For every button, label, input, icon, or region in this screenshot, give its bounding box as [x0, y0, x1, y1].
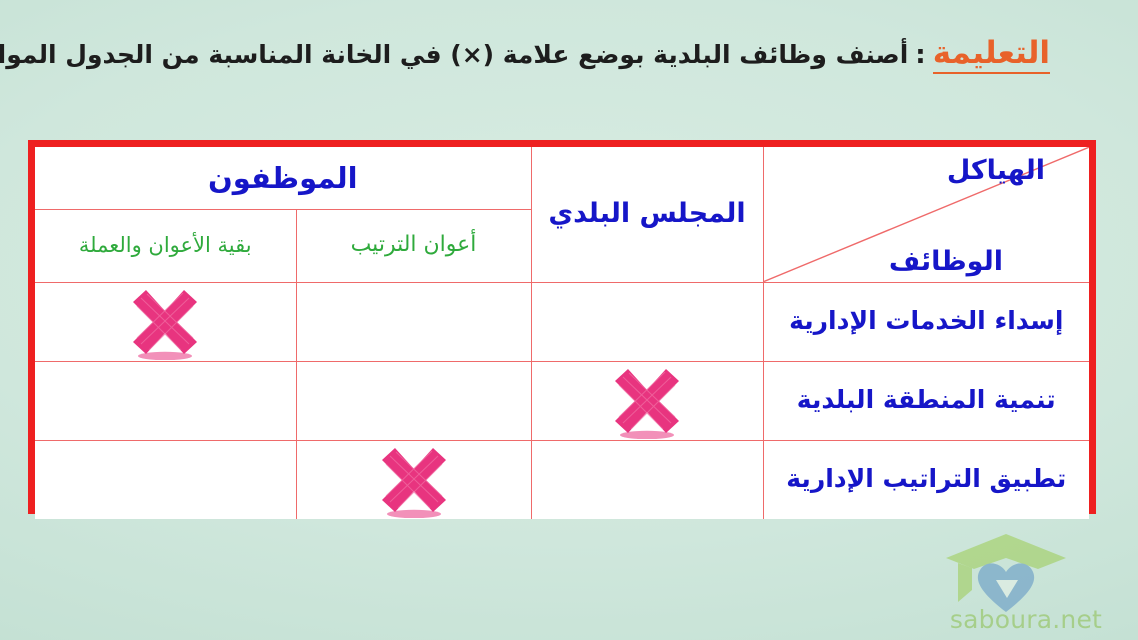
corner-top-label: الهياكل: [947, 155, 1045, 186]
watermark: saboura.net: [928, 530, 1124, 634]
cell-row2-council[interactable]: [531, 440, 763, 519]
instruction-separator: :: [908, 40, 932, 70]
column-header-council: المجلس البلدي: [531, 147, 763, 282]
cell-row2-rest[interactable]: [35, 440, 296, 519]
classification-table: الهياكل الوظائف المجلس البلدي الموظفون أ…: [28, 140, 1096, 514]
row-label-cell: تنمية المنطقة البلدية: [763, 361, 1089, 440]
row-label-text: تطبيق التراتيب الإدارية: [764, 465, 1090, 494]
column-group-header-employees: الموظفون: [35, 147, 531, 209]
column-header-agents-label: أعوان الترتيب: [297, 233, 531, 258]
cell-row1-council[interactable]: [531, 361, 763, 440]
worksheet-canvas: التعليمة : أصنف وظائف البلدية بوضع علامة…: [0, 0, 1138, 640]
x-mark-icon: [611, 363, 683, 439]
column-header-rest: بقية الأعوان والعملة: [35, 209, 296, 282]
cell-row0-rest[interactable]: [35, 282, 296, 361]
column-header-council-label: المجلس البلدي: [532, 199, 763, 229]
saboura-logo-icon: [928, 530, 1124, 616]
table-grid: الهياكل الوظائف المجلس البلدي الموظفون أ…: [35, 147, 1089, 519]
column-group-header-employees-label: الموظفون: [35, 162, 531, 194]
table-row: تطبيق التراتيب الإدارية: [35, 440, 1089, 519]
cell-row0-agents[interactable]: [296, 282, 531, 361]
row-label-cell: إسداء الخدمات الإدارية: [763, 282, 1089, 361]
column-header-rest-label: بقية الأعوان والعملة: [35, 235, 296, 256]
table-row: إسداء الخدمات الإدارية: [35, 282, 1089, 361]
watermark-text: saboura.net: [928, 605, 1124, 634]
cell-row1-agents[interactable]: [296, 361, 531, 440]
row-label-text: إسداء الخدمات الإدارية: [764, 307, 1090, 336]
row-label-text: تنمية المنطقة البلدية: [764, 386, 1090, 415]
corner-bottom-label: الوظائف: [889, 246, 1003, 277]
column-header-agents: أعوان الترتيب: [296, 209, 531, 282]
cell-row0-council[interactable]: [531, 282, 763, 361]
cell-row1-rest[interactable]: [35, 361, 296, 440]
table-row: تنمية المنطقة البلدية: [35, 361, 1089, 440]
x-mark-icon: [378, 442, 450, 518]
instruction-line: التعليمة : أصنف وظائف البلدية بوضع علامة…: [120, 28, 1050, 82]
corner-header-cell: الهياكل الوظائف: [763, 147, 1089, 282]
instruction-keyword: التعليمة: [933, 36, 1050, 73]
x-mark-icon: [129, 284, 201, 360]
cell-row2-agents[interactable]: [296, 440, 531, 519]
table-header-row-1: الهياكل الوظائف المجلس البلدي الموظفون: [35, 147, 1089, 209]
row-label-cell: تطبيق التراتيب الإدارية: [763, 440, 1089, 519]
instruction-text: أصنف وظائف البلدية بوضع علامة (×) في الخ…: [0, 41, 908, 69]
